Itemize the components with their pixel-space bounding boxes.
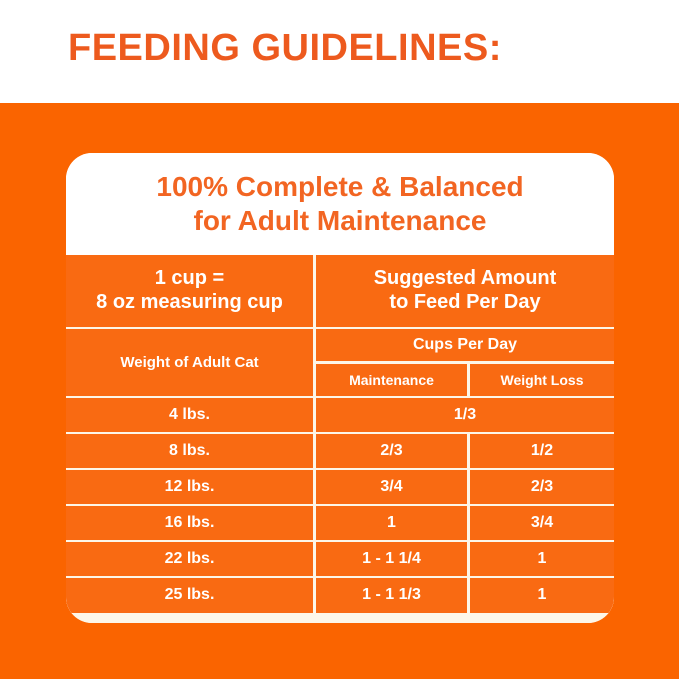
table-row: 4 lbs. 1/3: [66, 398, 614, 434]
cell-weight-loss: 1/2: [470, 434, 614, 468]
cell-maintenance: 1 - 1 1/4: [316, 542, 467, 576]
cell-weight: 25 lbs.: [66, 578, 313, 613]
cell-spanned-amount: 1/3: [316, 398, 614, 432]
suggested-amount-line-2: to Feed Per Day: [374, 291, 557, 315]
title-band: FEEDING GUIDELINES:: [0, 0, 679, 103]
table-row: 25 lbs. 1 - 1 1/3 1: [66, 578, 614, 614]
card-heading: 100% Complete & Balanced for Adult Maint…: [66, 153, 614, 255]
table-row: 16 lbs. 1 3/4: [66, 506, 614, 542]
cell-weight-loss: 1: [470, 578, 614, 613]
cell-weight-loss: 1: [470, 542, 614, 576]
suggested-amount-line-1: Suggested Amount: [374, 267, 557, 291]
suggested-amount-cell: Suggested Amount to Feed Per Day: [316, 255, 614, 327]
table-banner-row: 1 cup = 8 oz measuring cup Suggested Amo…: [66, 255, 614, 329]
header-subcolumns: Maintenance Weight Loss: [316, 364, 614, 396]
cell-weight: 4 lbs.: [66, 398, 313, 432]
header-maintenance: Maintenance: [316, 364, 467, 396]
cup-definition-cell: 1 cup = 8 oz measuring cup: [66, 255, 313, 327]
feeding-table: 1 cup = 8 oz measuring cup Suggested Amo…: [66, 255, 614, 623]
header-weight-loss: Weight Loss: [470, 364, 614, 396]
cell-weight-loss: 3/4: [470, 506, 614, 540]
feeding-guidelines-page: FEEDING GUIDELINES: 100% Complete & Bala…: [0, 0, 679, 679]
cell-weight: 22 lbs.: [66, 542, 313, 576]
table-row: 12 lbs. 3/4 2/3: [66, 470, 614, 506]
cell-maintenance: 3/4: [316, 470, 467, 504]
feeding-chart-card: 100% Complete & Balanced for Adult Maint…: [66, 153, 614, 623]
table-row: 22 lbs. 1 - 1 1/4 1: [66, 542, 614, 578]
cell-weight-loss: 2/3: [470, 470, 614, 504]
table-header-row: Weight of Adult Cat Cups Per Day Mainten…: [66, 329, 614, 398]
cell-weight: 8 lbs.: [66, 434, 313, 468]
card-heading-line-1: 100% Complete & Balanced: [156, 170, 523, 204]
cup-definition-line-1: 1 cup =: [96, 267, 283, 291]
header-cups-per-day: Cups Per Day: [316, 329, 614, 361]
cell-maintenance: 1: [316, 506, 467, 540]
cup-definition-line-2: 8 oz measuring cup: [96, 291, 283, 315]
cell-maintenance: 2/3: [316, 434, 467, 468]
card-heading-line-2: for Adult Maintenance: [194, 204, 487, 238]
header-cups-group: Cups Per Day Maintenance Weight Loss: [316, 329, 614, 396]
cell-weight: 16 lbs.: [66, 506, 313, 540]
table-row: 8 lbs. 2/3 1/2: [66, 434, 614, 470]
header-weight-of-adult-cat: Weight of Adult Cat: [66, 329, 313, 396]
cell-weight: 12 lbs.: [66, 470, 313, 504]
page-title: FEEDING GUIDELINES:: [68, 27, 502, 70]
cell-maintenance: 1 - 1 1/3: [316, 578, 467, 613]
